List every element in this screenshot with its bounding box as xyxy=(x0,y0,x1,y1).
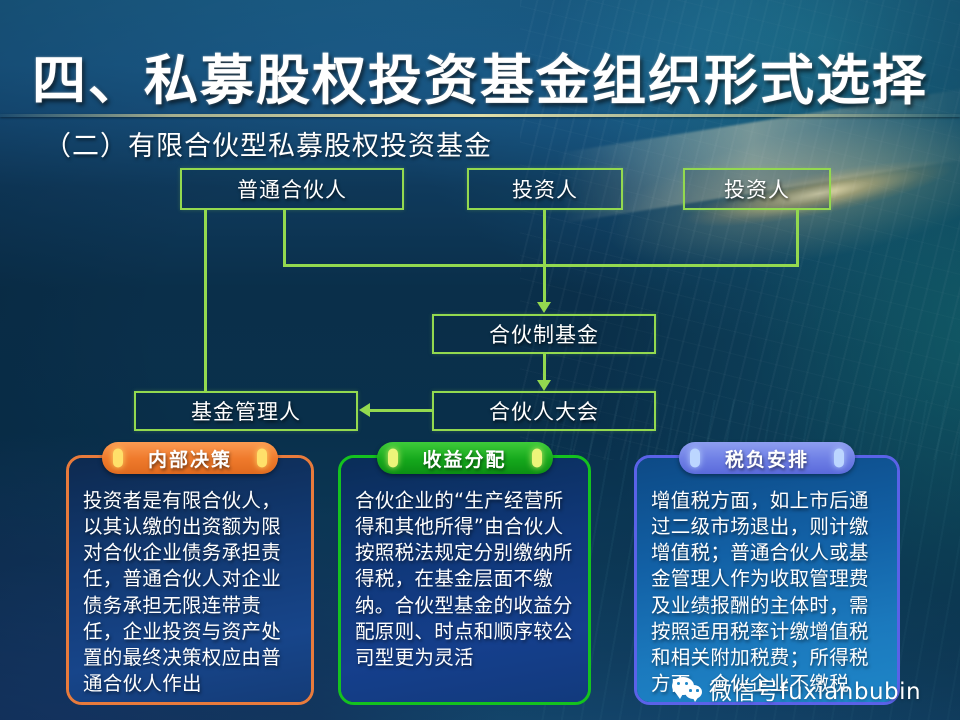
connector-partners-bus-horizontal xyxy=(283,264,799,267)
connector-investor2-vertical xyxy=(796,210,799,265)
flow-node-general-partner: 普通合伙人 xyxy=(180,168,404,210)
panel-body: 投资者是有限合伙人，以其认缴的出资额为限对合伙企业债务承担责任，普通合伙人对企业… xyxy=(69,458,311,702)
panel-body: 增值税方面，如上市后通过二级市场退出，则计缴增值税；普通合伙人或基金管理人作为收… xyxy=(637,458,897,702)
panel-body: 合伙企业的“生产经营所得和其他所得”由合伙人按照税法规定分别缴纳所得税，在基金层… xyxy=(341,458,588,702)
connector-bus-to-fund-vertical xyxy=(543,264,546,302)
bulb-left-icon xyxy=(113,449,123,468)
panel-title: 收益分配 xyxy=(422,445,506,472)
connector-investor1-vertical xyxy=(543,210,546,265)
panel-text: 增值税方面，如上市后通过二级市场退出，则计缴增值税；普通合伙人或基金管理人作为收… xyxy=(651,489,869,695)
panel-profit-distribution: 合伙企业的“生产经营所得和其他所得”由合伙人按照税法规定分别缴纳所得税，在基金层… xyxy=(338,455,591,705)
wechat-watermark-label: 微信号fuxianbubin xyxy=(709,672,921,706)
panel-badge-tax-arrangement: 税负安排 xyxy=(679,442,855,474)
connector-gp-to-manager-vertical xyxy=(204,210,207,391)
arrow-bus-to-fund xyxy=(537,302,551,313)
flow-node-label: 投资人 xyxy=(512,174,578,204)
panel-tax-arrangement: 增值税方面，如上市后通过二级市场退出，则计缴增值税；普通合伙人或基金管理人作为收… xyxy=(634,455,900,705)
slide-canvas: 四、私募股权投资基金组织形式选择 （二）有限合伙型私募股权投资基金 普通合伙人 … xyxy=(0,0,960,720)
flow-node-partnership-fund: 合伙制基金 xyxy=(432,314,656,354)
flow-node-partners-assembly: 合伙人大会 xyxy=(432,391,656,431)
title-divider xyxy=(0,114,960,117)
arrow-fund-to-assembly xyxy=(537,380,551,391)
arrow-assembly-to-manager xyxy=(359,403,370,417)
connector-gp-to-bus-vertical xyxy=(283,210,286,265)
wechat-icon xyxy=(672,676,702,702)
slide-title: 四、私募股权投资基金组织形式选择 xyxy=(0,36,960,115)
panel-text: 投资者是有限合伙人，以其认缴的出资额为限对合伙企业债务承担责任，普通合伙人对企业… xyxy=(83,489,281,695)
panel-text: 合伙企业的“生产经营所得和其他所得”由合伙人按照税法规定分别缴纳所得税，在基金层… xyxy=(355,489,573,669)
wechat-bubble-small xyxy=(685,685,702,699)
panel-internal-decision: 投资者是有限合伙人，以其认缴的出资额为限对合伙企业债务承担责任，普通合伙人对企业… xyxy=(66,455,314,705)
flow-node-fund-manager: 基金管理人 xyxy=(134,391,358,431)
connector-fund-to-assembly-vertical xyxy=(543,354,546,380)
flow-node-label: 合伙人大会 xyxy=(489,396,599,426)
flow-node-investor-2: 投资人 xyxy=(683,168,831,210)
panel-title: 内部决策 xyxy=(148,445,232,472)
slide-subtitle: （二）有限合伙型私募股权投资基金 xyxy=(44,124,492,163)
flow-node-investor-1: 投资人 xyxy=(467,168,623,210)
bulb-left-icon xyxy=(388,449,398,468)
bulb-right-icon xyxy=(257,449,267,468)
flow-node-label: 合伙制基金 xyxy=(489,319,599,349)
flow-node-label: 普通合伙人 xyxy=(237,174,347,204)
connector-assembly-to-manager-horizontal xyxy=(370,409,432,412)
flow-node-label: 基金管理人 xyxy=(191,396,301,426)
panel-title: 税负安排 xyxy=(725,445,809,472)
flow-node-label: 投资人 xyxy=(724,174,790,204)
bulb-left-icon xyxy=(690,449,700,468)
panel-badge-profit-distribution: 收益分配 xyxy=(377,442,553,474)
panel-badge-internal-decision: 内部决策 xyxy=(102,442,278,474)
wechat-watermark: 微信号fuxianbubin xyxy=(672,672,921,706)
bulb-right-icon xyxy=(834,449,844,468)
bulb-right-icon xyxy=(532,449,542,468)
